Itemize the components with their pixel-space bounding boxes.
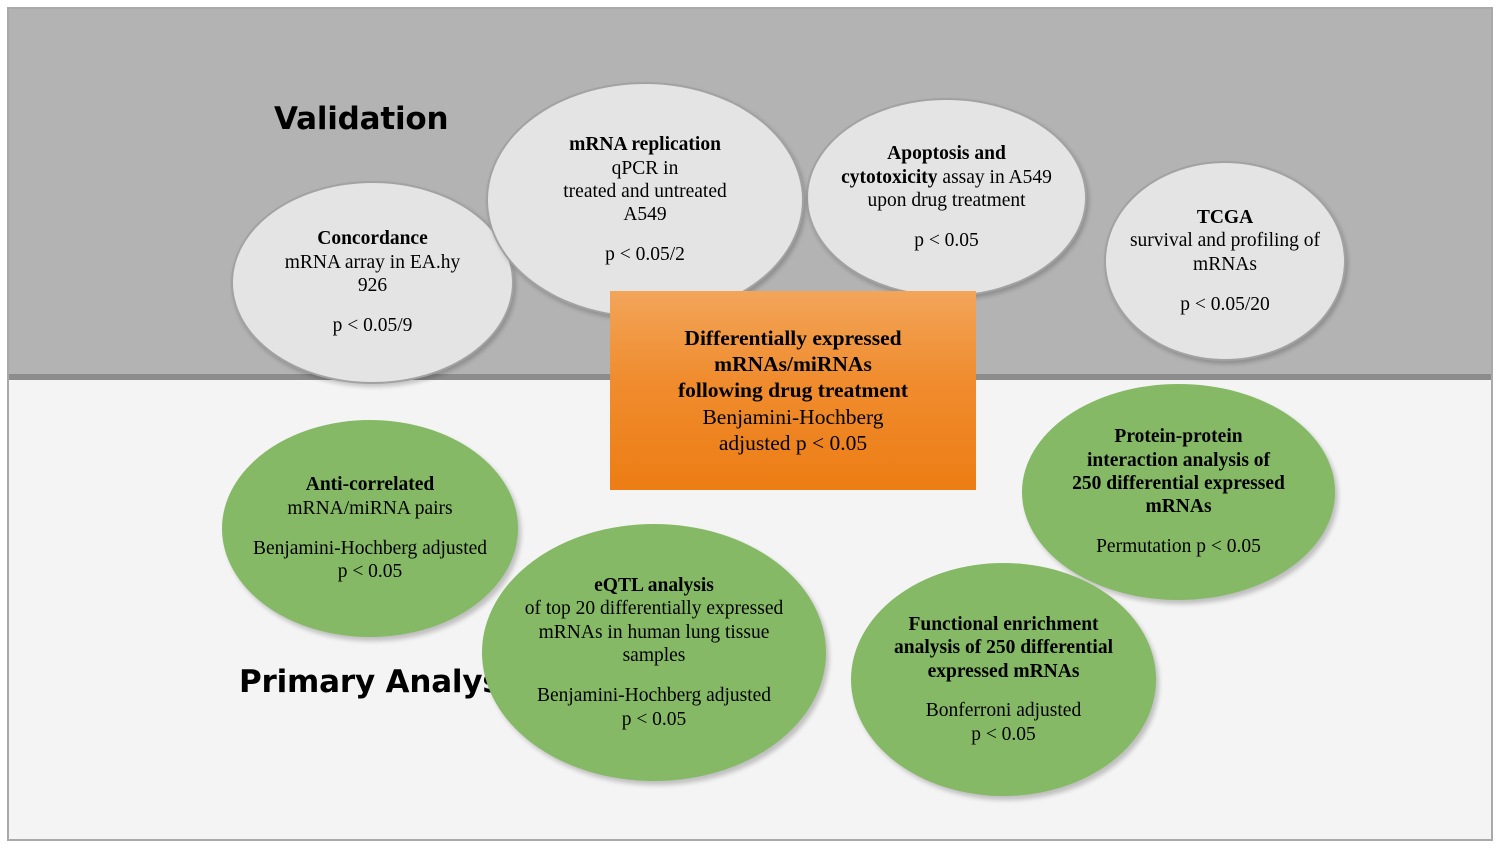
node-anti-correlated-pvalue-line-1: Benjamini-Hochberg adjusted: [253, 538, 487, 559]
node-tcga-pvalue: p < 0.05/20: [1180, 294, 1270, 315]
central-result-box[interactable]: Differentially expressed mRNAs/miRNAs fo…: [610, 291, 976, 490]
central-result-box-text: Differentially expressed mRNAs/miRNAs fo…: [610, 325, 976, 456]
center-line-2: mRNAs/miRNAs: [714, 352, 872, 376]
node-protein-protein-interaction[interactable]: Protein-protein interaction analysis of …: [1022, 384, 1335, 600]
node-ppi-pvalue: Permutation p < 0.05: [1096, 536, 1261, 557]
node-concordance-pvalue: p < 0.05/9: [333, 315, 413, 336]
node-concordance-body-line-1: mRNA array in EA.hy: [285, 252, 460, 273]
node-concordance[interactable]: Concordance mRNA array in EA.hy 926 p < …: [231, 181, 514, 384]
node-eqtl-analysis-text: eQTL analysis of top 20 differentially e…: [483, 574, 825, 731]
node-apoptosis-title-line-2: cytotoxicity: [841, 167, 937, 188]
node-ppi-title-line-4: mRNAs: [1145, 496, 1211, 517]
node-eqtl-pvalue-line-1: Benjamini-Hochberg adjusted: [537, 685, 771, 706]
node-anti-correlated[interactable]: Anti-correlated mRNA/miRNA pairs Benjami…: [222, 420, 518, 637]
node-concordance-text: Concordance mRNA array in EA.hy 926 p < …: [233, 227, 512, 337]
node-mrna-replication-pvalue: p < 0.05/2: [605, 244, 685, 265]
node-anti-correlated-text: Anti-correlated mRNA/miRNA pairs Benjami…: [223, 473, 517, 583]
node-eqtl-analysis-title: eQTL analysis: [594, 575, 714, 596]
validation-section-label: Validation: [274, 101, 448, 137]
node-tcga-body-line-2: mRNAs: [1193, 254, 1257, 275]
node-ppi-title-line-2: interaction analysis of: [1087, 450, 1270, 471]
center-line-5: adjusted p < 0.05: [719, 431, 867, 455]
node-concordance-title: Concordance: [317, 228, 428, 249]
center-line-4: Benjamini-Hochberg: [702, 405, 883, 429]
node-apoptosis-body-line-1: upon drug treatment: [867, 190, 1025, 211]
node-anti-correlated-title: Anti-correlated: [306, 474, 435, 495]
node-ppi-text: Protein-protein interaction analysis of …: [1023, 425, 1334, 559]
node-mrna-replication-text: mRNA replication qPCR in treated and unt…: [488, 133, 802, 267]
node-apoptosis-title-line-1: Apoptosis and: [887, 143, 1006, 164]
node-eqtl-body-line-1: of top 20 differentially expressed: [525, 598, 783, 619]
node-concordance-body-line-2: 926: [358, 275, 387, 296]
diagram-canvas: Validation Primary Analysis Concordance …: [0, 0, 1500, 848]
node-tcga[interactable]: TCGA survival and profiling of mRNAs p <…: [1104, 161, 1346, 361]
node-eqtl-analysis[interactable]: eQTL analysis of top 20 differentially e…: [482, 524, 826, 781]
node-functional-title-line-1: Functional enrichment: [908, 614, 1098, 635]
node-apoptosis-cytotoxicity[interactable]: Apoptosis and cytotoxicity assay in A549…: [806, 98, 1087, 297]
node-functional-enrichment-text: Functional enrichment analysis of 250 di…: [852, 613, 1155, 747]
node-apoptosis-pvalue: p < 0.05: [914, 230, 979, 251]
node-functional-title-line-3: expressed mRNAs: [928, 661, 1080, 682]
node-functional-pvalue-line-2: p < 0.05: [971, 724, 1036, 745]
node-apoptosis-body-inline: assay in A549: [938, 167, 1052, 188]
node-anti-correlated-body-line-1: mRNA/miRNA pairs: [287, 498, 452, 519]
node-tcga-text: TCGA survival and profiling of mRNAs p <…: [1106, 206, 1344, 316]
node-eqtl-body-line-3: samples: [623, 645, 686, 666]
node-eqtl-body-line-2: mRNAs in human lung tissue: [539, 622, 770, 643]
node-anti-correlated-pvalue-line-2: p < 0.05: [338, 561, 403, 582]
node-functional-enrichment[interactable]: Functional enrichment analysis of 250 di…: [851, 563, 1156, 796]
node-mrna-replication-body-line-1: qPCR in: [612, 158, 679, 179]
node-tcga-title: TCGA: [1197, 207, 1253, 228]
node-mrna-replication-title: mRNA replication: [569, 134, 721, 155]
node-ppi-title-line-1: Protein-protein: [1114, 426, 1242, 447]
node-functional-title-line-2: analysis of 250 differential: [894, 637, 1113, 658]
node-tcga-body-line-1: survival and profiling of: [1130, 230, 1320, 251]
node-apoptosis-cytotoxicity-text: Apoptosis and cytotoxicity assay in A549…: [808, 142, 1085, 252]
node-eqtl-pvalue-line-2: p < 0.05: [622, 709, 687, 730]
node-functional-pvalue-line-1: Bonferroni adjusted: [926, 700, 1081, 721]
center-line-3: following drug treatment: [678, 378, 908, 402]
center-line-1: Differentially expressed: [684, 326, 901, 350]
node-mrna-replication-body-line-2: treated and untreated: [563, 181, 727, 202]
node-mrna-replication[interactable]: mRNA replication qPCR in treated and unt…: [486, 82, 804, 318]
node-mrna-replication-body-line-3: A549: [623, 204, 666, 225]
node-ppi-title-line-3: 250 differential expressed: [1072, 473, 1285, 494]
